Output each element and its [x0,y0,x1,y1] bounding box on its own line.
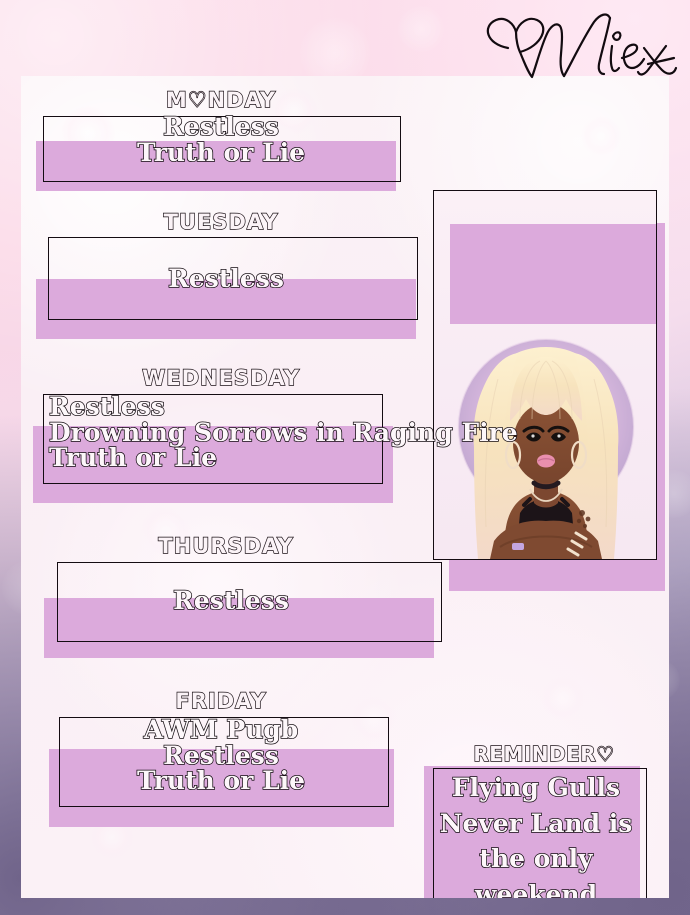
entry: Drowning Sorrows in Raging Fire [49,420,518,446]
day-title-monday: M♡NDAY [21,88,421,112]
day-entries-thursday: Restless [21,588,441,614]
entry: Restless [21,743,421,769]
entry: Restless [21,266,431,292]
entry: AWM Pugb [21,717,421,743]
entry: Truth or Lie [49,445,518,471]
photo-frame [433,190,657,560]
day-title-thursday: THURSDAY [21,534,431,558]
day-title-tuesday: TUESDAY [21,210,421,234]
entry: Truth or Lie [21,140,421,166]
entry: Restless [21,588,441,614]
day-entries-wednesday: Restless Drowning Sorrows in Raging Fire… [49,394,518,471]
photo-inner-plate [450,224,657,324]
day-entries-friday: AWM Pugb Restless Truth or Lie [21,717,421,794]
day-title-friday: FRIDAY [21,689,421,713]
day-entries-tuesday: Restless [21,266,431,292]
entry: Restless [21,114,421,140]
reminder-text: Flying Gulls Never Land is the only week… [425,770,647,898]
entry: Restless [49,394,518,420]
day-title-wednesday: WEDNESDAY [21,366,421,390]
day-entries-monday: Restless Truth or Lie [21,114,421,165]
planner-card: M♡NDAY Restless Truth or Lie TUESDAY Res… [21,76,669,898]
entry: Truth or Lie [21,768,421,794]
brand-signature-logo [462,2,682,80]
reminder-title: REMINDER♡ [419,742,669,766]
